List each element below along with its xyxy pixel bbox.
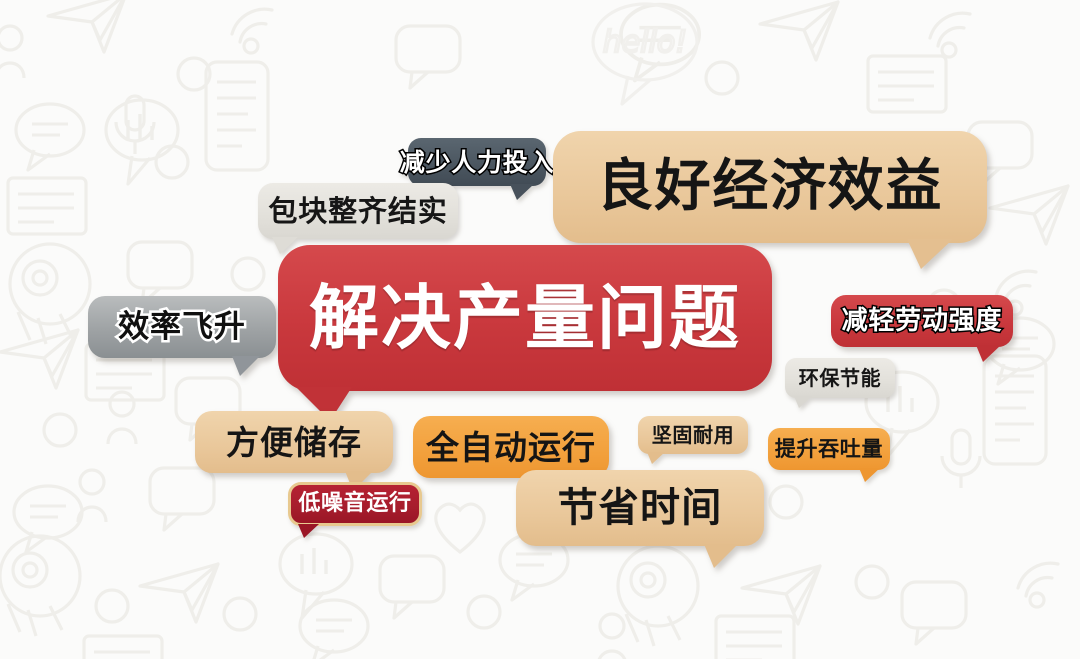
bubble-sturdy-durable[interactable]: 坚固耐用 xyxy=(638,416,748,454)
bubble-tail xyxy=(232,356,260,376)
bubble-tail xyxy=(647,452,665,464)
bubble-tail xyxy=(794,396,812,408)
bubble-good-economic-benefit[interactable]: 良好经济效益 xyxy=(553,131,987,243)
hello-doodle: hello! xyxy=(593,4,697,104)
poster-canvas: hello! 减少人力投入 包块整齐结实 良好经济效益 效率飞升 解决产量问题 … xyxy=(0,0,1080,659)
bubble-label: 提升吞吐量 xyxy=(775,439,883,460)
bubble-convenient-storage[interactable]: 方便储存 xyxy=(195,411,393,473)
bubble-label: 减轻劳动强度 xyxy=(842,308,1003,334)
bubble-tail xyxy=(907,239,953,269)
bubble-tail xyxy=(510,184,534,200)
bubble-eco-energy-saving[interactable]: 环保节能 xyxy=(785,358,895,398)
bubble-tail xyxy=(704,544,738,568)
bubble-tail xyxy=(298,524,319,538)
bubble-solve-output-problem[interactable]: 解决产量问题 xyxy=(278,245,772,391)
bubble-save-time[interactable]: 节省时间 xyxy=(516,470,764,546)
bubble-label: 低噪音运行 xyxy=(298,493,411,515)
bubble-label: 效率飞升 xyxy=(118,312,246,343)
bubble-low-noise-operation[interactable]: 低噪音运行 xyxy=(288,482,422,526)
bubble-label: 坚固耐用 xyxy=(652,425,734,445)
bubble-label: 包块整齐结实 xyxy=(268,197,447,226)
svg-text:hello!: hello! xyxy=(603,25,688,60)
bubble-increase-throughput[interactable]: 提升吞吐量 xyxy=(768,428,890,470)
bubble-tail xyxy=(859,468,880,482)
bubble-fully-automatic-operation[interactable]: 全自动运行 xyxy=(413,416,609,478)
bubble-label: 方便储存 xyxy=(226,426,362,459)
bubble-label: 良好经济效益 xyxy=(597,159,943,215)
bubble-reduce-labor-intensity[interactable]: 减轻劳动强度 xyxy=(831,295,1013,347)
bubble-label: 节省时间 xyxy=(558,488,723,528)
bubble-tail xyxy=(976,345,1001,362)
bubble-label: 环保节能 xyxy=(799,368,881,388)
bubble-reduce-manpower[interactable]: 减少人力投入 xyxy=(408,138,546,186)
bubble-label: 全自动运行 xyxy=(426,431,596,464)
bubble-label: 减少人力投入 xyxy=(400,150,555,175)
bubble-label: 解决产量问题 xyxy=(309,283,741,353)
bubble-neat-firm-bales[interactable]: 包块整齐结实 xyxy=(258,183,458,239)
bubble-efficiency-soars[interactable]: 效率飞升 xyxy=(88,296,276,358)
